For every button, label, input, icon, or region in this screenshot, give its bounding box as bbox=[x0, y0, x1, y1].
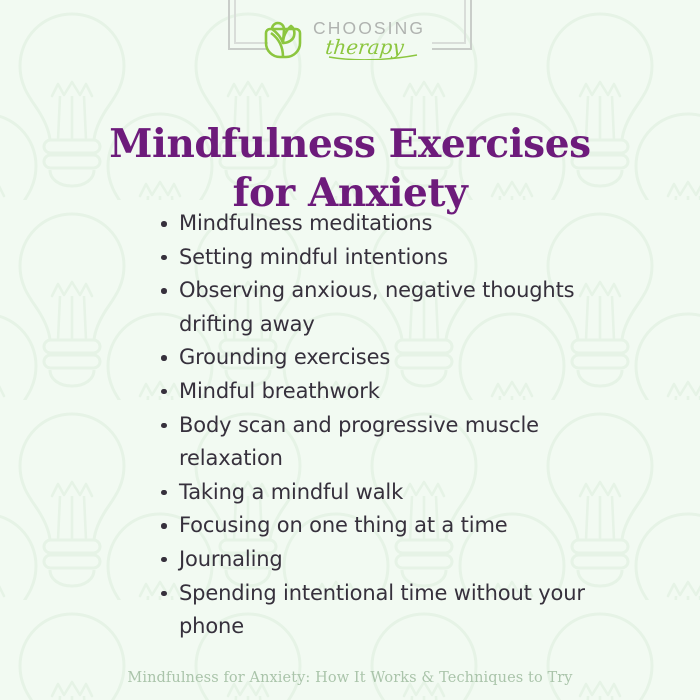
list-item: Focusing on one thing at a time bbox=[157, 509, 587, 543]
choosing-therapy-logo[interactable]: CHOOSING therapy bbox=[262, 14, 452, 64]
list-item: Journaling bbox=[157, 543, 587, 577]
svg-text:therapy: therapy bbox=[324, 35, 405, 59]
exercise-list: Mindfulness meditationsSetting mindful i… bbox=[157, 207, 587, 644]
page-title-line-1: Mindfulness Exercises bbox=[0, 120, 700, 169]
list-item: Observing anxious, negative thoughts dri… bbox=[157, 274, 587, 341]
list-item: Taking a mindful walk bbox=[157, 476, 587, 510]
page-title: Mindfulness Exercises for Anxiety bbox=[0, 120, 700, 218]
lotus-leaf-icon bbox=[262, 19, 304, 59]
list-item: Body scan and progressive muscle relaxat… bbox=[157, 409, 587, 476]
list-item: Setting mindful intentions bbox=[157, 241, 587, 275]
logo-word-therapy: therapy bbox=[321, 32, 441, 60]
logo-wordmark: CHOOSING therapy bbox=[311, 17, 447, 61]
list-item: Mindfulness meditations bbox=[157, 207, 587, 241]
infographic-card: CHOOSING therapy Mindfulness Exercises f… bbox=[0, 0, 700, 700]
source-caption: Mindfulness for Anxiety: How It Works & … bbox=[0, 670, 700, 686]
list-item: Grounding exercises bbox=[157, 341, 587, 375]
list-item: Mindful breathwork bbox=[157, 375, 587, 409]
list-item: Spending intentional time without your p… bbox=[157, 577, 587, 644]
header: CHOOSING therapy bbox=[0, 0, 700, 80]
